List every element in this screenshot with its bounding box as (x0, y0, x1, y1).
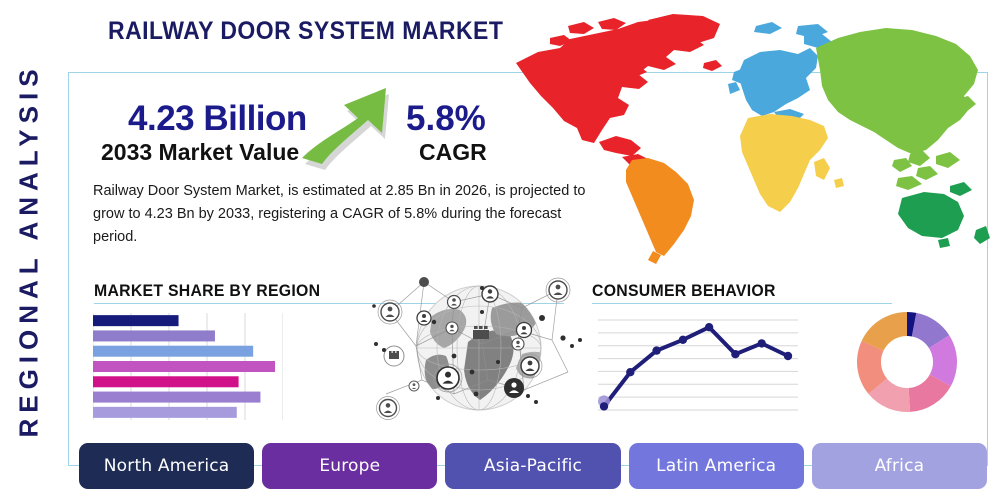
region-chip-europe[interactable]: Europe (262, 443, 437, 489)
map-region-south-america (626, 158, 694, 264)
market-value-caption: 2033 Market Value (101, 139, 299, 166)
consumer-behavior-line-chart (598, 312, 798, 420)
market-share-bar-chart (93, 313, 283, 420)
map-region-oceania (898, 182, 990, 248)
regional-analysis-side-label: REGIONAL ANALYSIS (0, 0, 60, 500)
map-region-asia (816, 28, 978, 190)
network-person-icon (419, 277, 429, 287)
map-region-north-america (516, 14, 722, 167)
global-network-graphic (372, 268, 587, 428)
world-map-graphic (498, 8, 998, 270)
region-chip-label: North America (104, 456, 230, 476)
page-title: RAILWAY DOOR SYSTEM MARKET (108, 17, 503, 46)
network-person-icon (446, 322, 458, 334)
map-region-africa (740, 114, 844, 212)
network-person-icon (504, 378, 524, 398)
regional-split-donut-chart (853, 308, 961, 416)
network-person-icon (517, 323, 532, 338)
network-person-icon (518, 354, 542, 378)
cagr-caption: CAGR (419, 139, 487, 166)
region-chip-label: Asia-Pacific (484, 456, 582, 476)
region-chip-bar: North America Europe Asia-Pacific Latin … (79, 440, 987, 492)
region-chip-north-america[interactable]: North America (79, 443, 254, 489)
network-person-icon (512, 338, 524, 350)
infographic-root: REGIONAL ANALYSIS RAILWAY DOOR SYSTEM MA… (0, 0, 1000, 500)
region-chip-latin-america[interactable]: Latin America (629, 443, 804, 489)
network-person-icon (378, 300, 402, 324)
network-person-icon (546, 278, 570, 302)
network-person-icon (417, 311, 431, 325)
region-chip-africa[interactable]: Africa (812, 443, 987, 489)
region-chip-label: Latin America (656, 456, 776, 476)
network-person-icon (482, 286, 498, 302)
map-region-europe (728, 22, 832, 122)
cagr-figure: 5.8% (406, 99, 486, 139)
region-chip-asia-pacific[interactable]: Asia-Pacific (445, 443, 620, 489)
side-label-text: REGIONAL ANALYSIS (14, 63, 45, 437)
market-value-figure: 4.23 Billion (128, 99, 307, 139)
consumer-behavior-divider (592, 303, 892, 304)
region-chip-label: Europe (319, 456, 380, 476)
network-person-icon (377, 397, 400, 420)
network-building-icon (473, 326, 489, 339)
consumer-behavior-heading: CONSUMER BEHAVIOR (592, 281, 776, 301)
network-person-icon (448, 296, 461, 309)
growth-arrow-icon (300, 80, 410, 170)
network-person-icon (434, 364, 462, 392)
content-frame-right-edge (987, 243, 988, 465)
market-share-heading: MARKET SHARE BY REGION (94, 281, 320, 301)
network-person-icon (409, 381, 419, 391)
network-building-icon (384, 346, 404, 366)
region-chip-label: Africa (875, 456, 925, 476)
